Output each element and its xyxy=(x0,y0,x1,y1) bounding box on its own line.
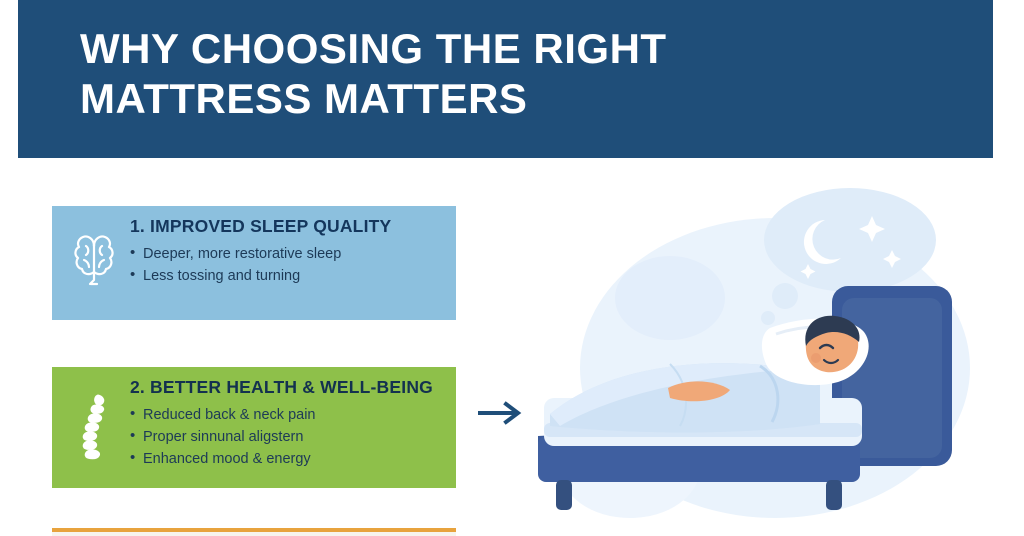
benefit-card-1-title: 1. IMPROVED SLEEP QUALITY xyxy=(130,216,442,237)
list-item: Reduced back & neck pain xyxy=(130,404,442,426)
list-item: Proper sinnunal aligstern xyxy=(130,426,442,448)
person-sleeping-in-bed-illustration xyxy=(520,168,1020,536)
benefit-card-1: 1. IMPROVED SLEEP QUALITY Deeper, more r… xyxy=(52,206,456,320)
spine-icon xyxy=(68,391,120,465)
infographic-root: WHY CHOOSING THE RIGHT MATTRESS MATTERS … xyxy=(0,0,1024,536)
brain-icon xyxy=(68,226,120,300)
right-arrow-icon xyxy=(478,398,526,428)
benefit-card-2: 2. BETTER HEALTH & WELL-BEING Reduced ba… xyxy=(52,367,456,488)
list-item: Less tossing and turning xyxy=(130,265,442,287)
benefit-card-2-title: 2. BETTER HEALTH & WELL-BEING xyxy=(130,377,442,398)
benefit-card-2-bullets: Reduced back & neck pain Proper sinnunal… xyxy=(130,404,442,470)
benefit-card-3 xyxy=(52,528,456,536)
page-title: WHY CHOOSING THE RIGHT MATTRESS MATTERS xyxy=(80,24,910,124)
list-item: Enhanced mood & energy xyxy=(130,448,442,470)
header-band: WHY CHOOSING THE RIGHT MATTRESS MATTERS xyxy=(18,0,993,158)
list-item: Deeper, more restorative sleep xyxy=(130,243,442,265)
benefit-card-1-bullets: Deeper, more restorative sleep Less toss… xyxy=(130,243,442,287)
